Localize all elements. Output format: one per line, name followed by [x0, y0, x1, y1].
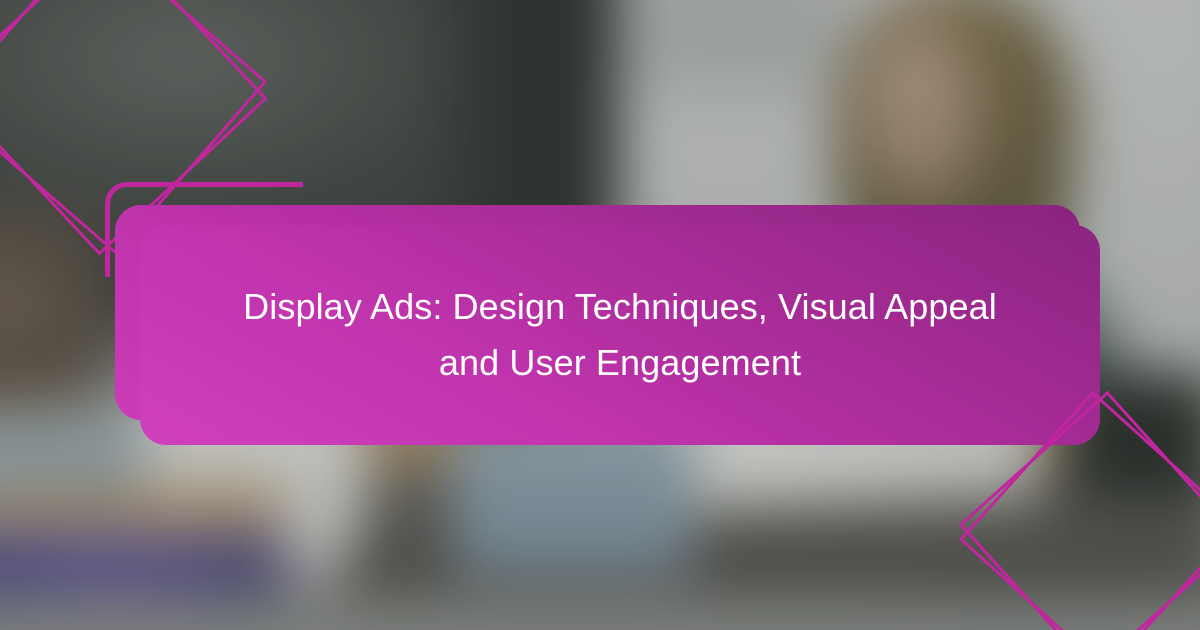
- page-title: Display Ads: Design Techniques, Visual A…: [162, 279, 1078, 391]
- decorative-squares-top-left: [0, 0, 220, 208]
- title-card: Display Ads: Design Techniques, Visual A…: [140, 225, 1100, 445]
- banner-canvas: Display Ads: Design Techniques, Visual A…: [0, 0, 1200, 630]
- decorative-squares-bottom-right: [1000, 432, 1200, 630]
